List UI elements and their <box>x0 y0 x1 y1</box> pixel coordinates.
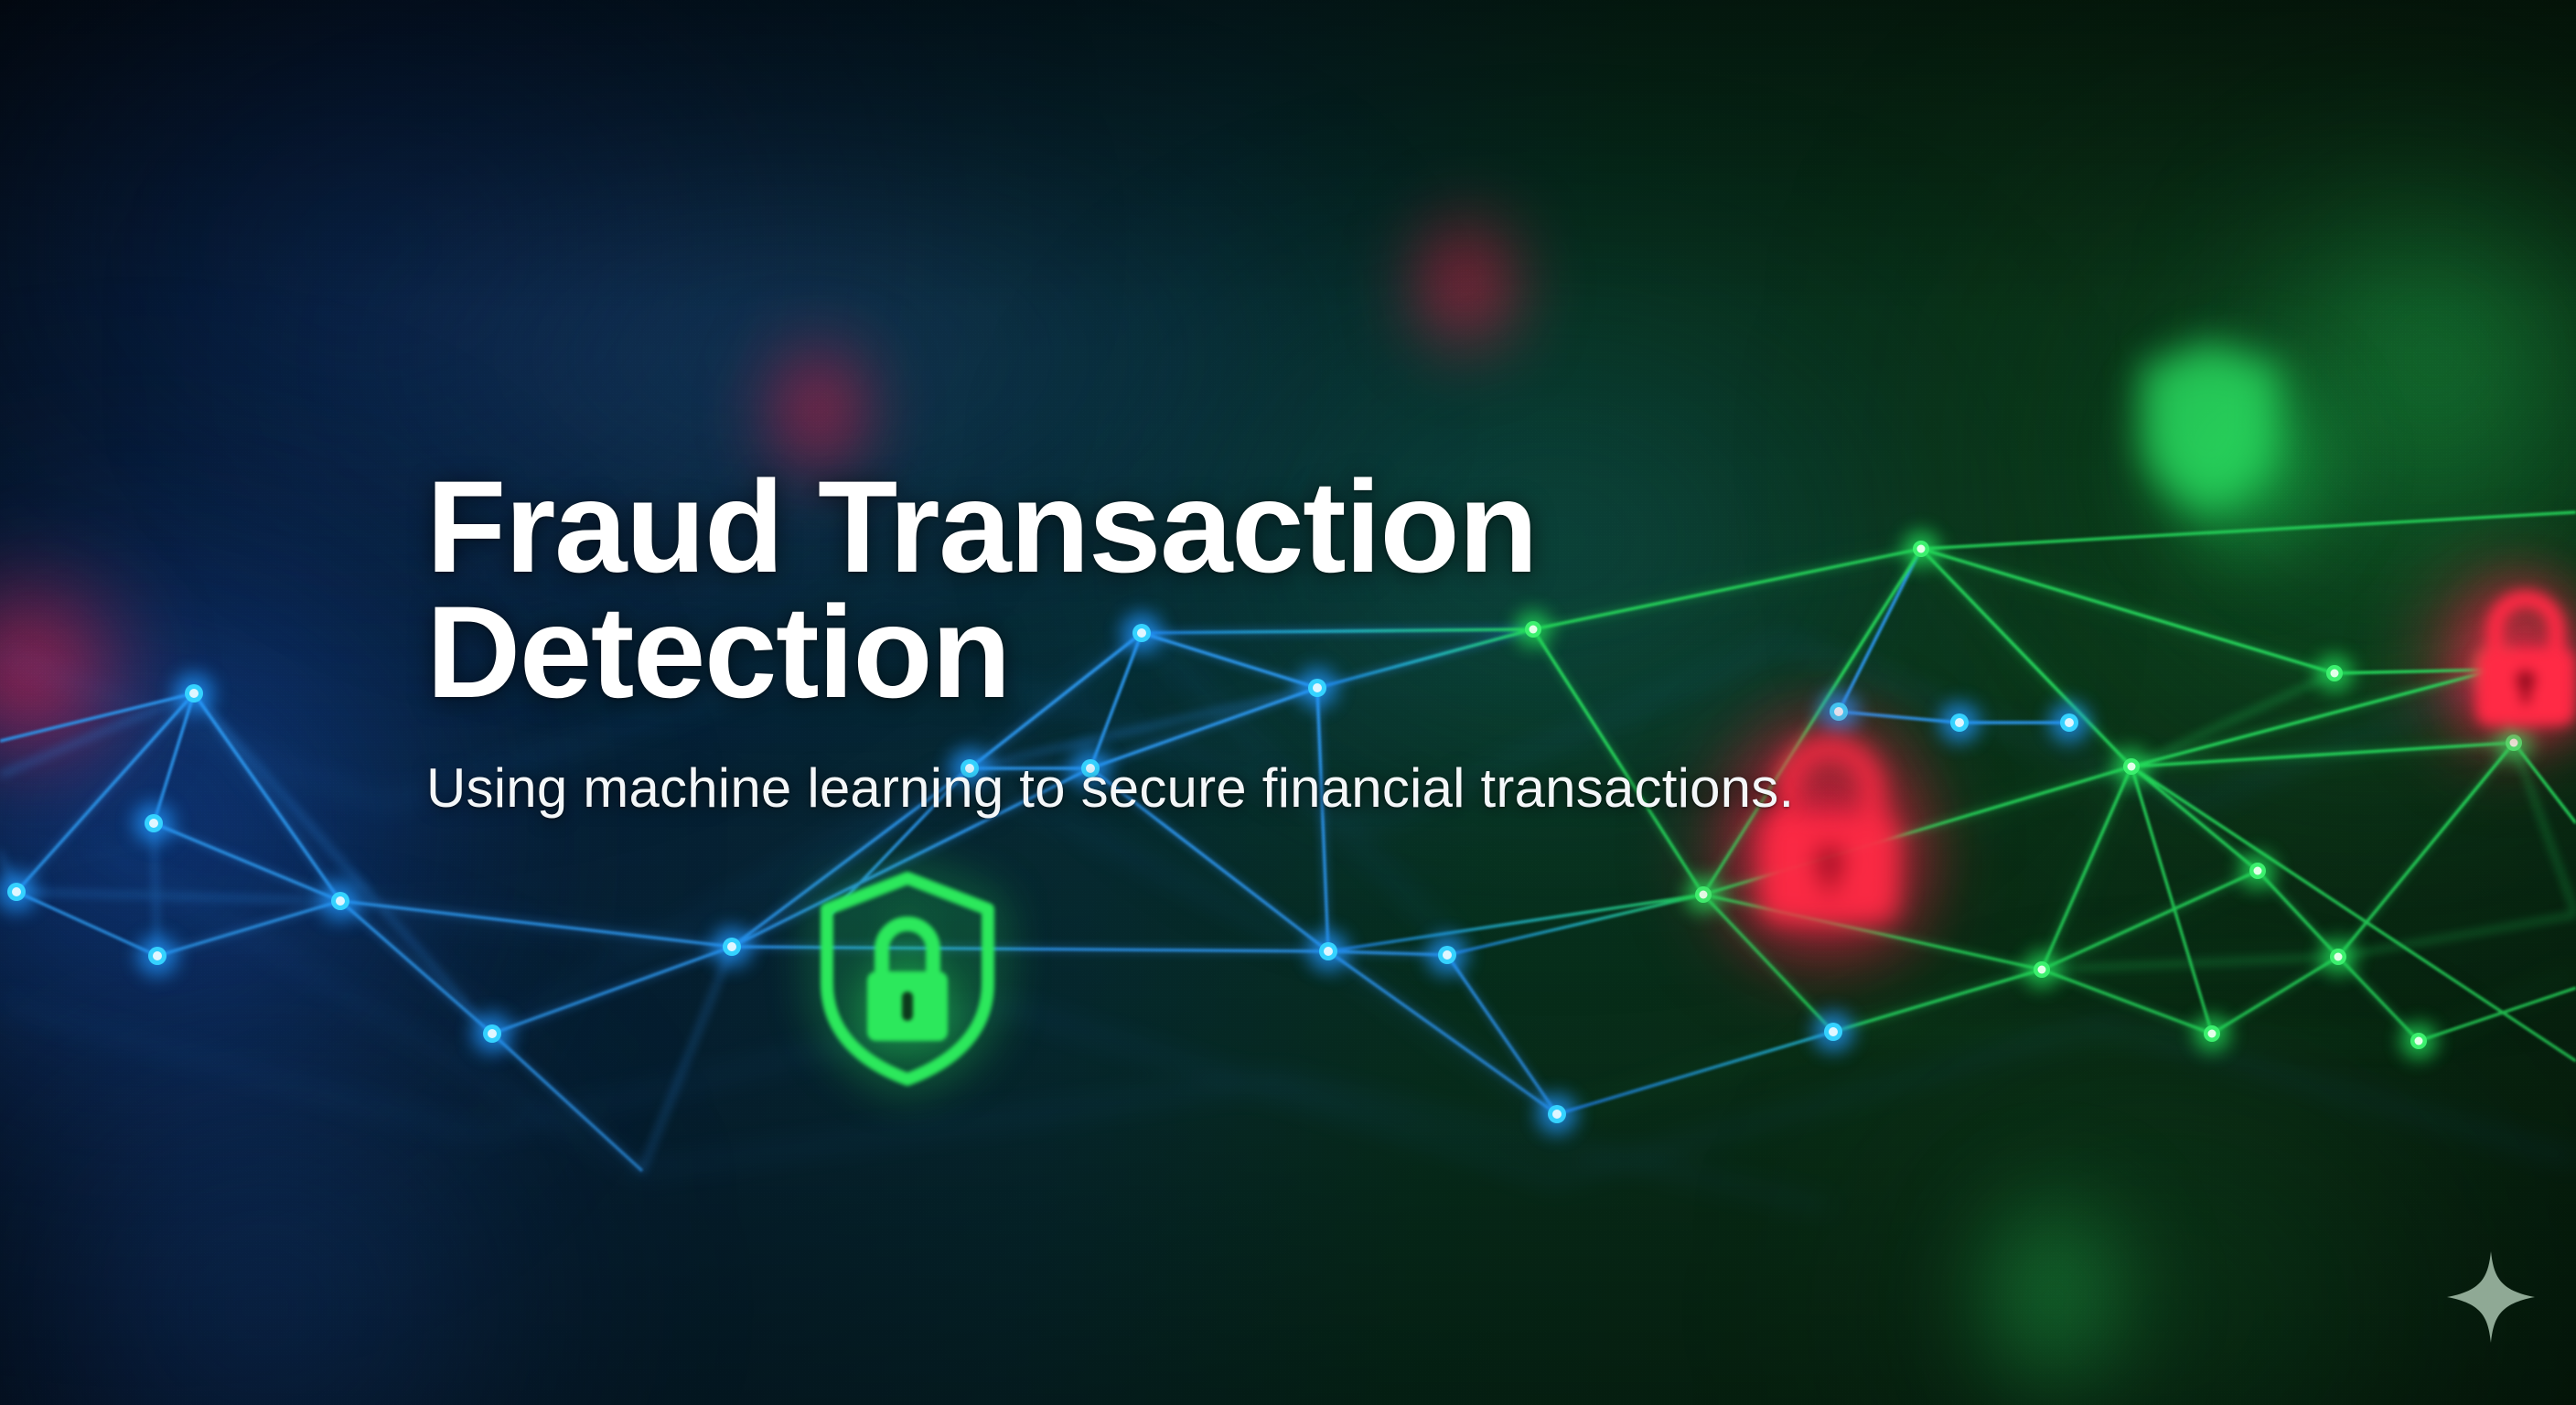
network-node <box>2208 1030 2216 1038</box>
network-node <box>1834 707 1843 716</box>
network-node <box>189 689 199 698</box>
network-node <box>1552 1110 1562 1119</box>
network-node <box>2492 666 2500 674</box>
page-subtitle: Using machine learning to secure financi… <box>426 756 1794 820</box>
network-node <box>153 951 162 960</box>
hero-text-block: Fraud Transaction Detection Using machin… <box>426 465 1794 820</box>
network-node <box>2065 718 2074 727</box>
network-node <box>336 896 345 906</box>
sparkle-icon[interactable] <box>2445 1249 2537 1345</box>
network-node <box>2128 763 2136 771</box>
network-node <box>1955 718 1964 727</box>
network-node <box>727 942 736 951</box>
network-node <box>1324 947 1333 956</box>
network-node <box>2254 867 2262 875</box>
network-node <box>1443 950 1452 960</box>
network-node <box>149 819 158 828</box>
hero-slide: Fraud Transaction Detection Using machin… <box>0 0 2576 1405</box>
network-node <box>2038 966 2046 974</box>
network-node <box>488 1029 497 1038</box>
network-node <box>2415 1037 2423 1046</box>
network-node <box>1700 891 1708 899</box>
network-node <box>2331 670 2339 678</box>
network-node <box>1917 545 1926 553</box>
page-title: Fraud Transaction Detection <box>426 465 1794 716</box>
network-node <box>1829 1027 1838 1036</box>
network-node <box>2334 953 2343 961</box>
network-node <box>12 887 21 896</box>
network-node <box>2510 739 2518 747</box>
